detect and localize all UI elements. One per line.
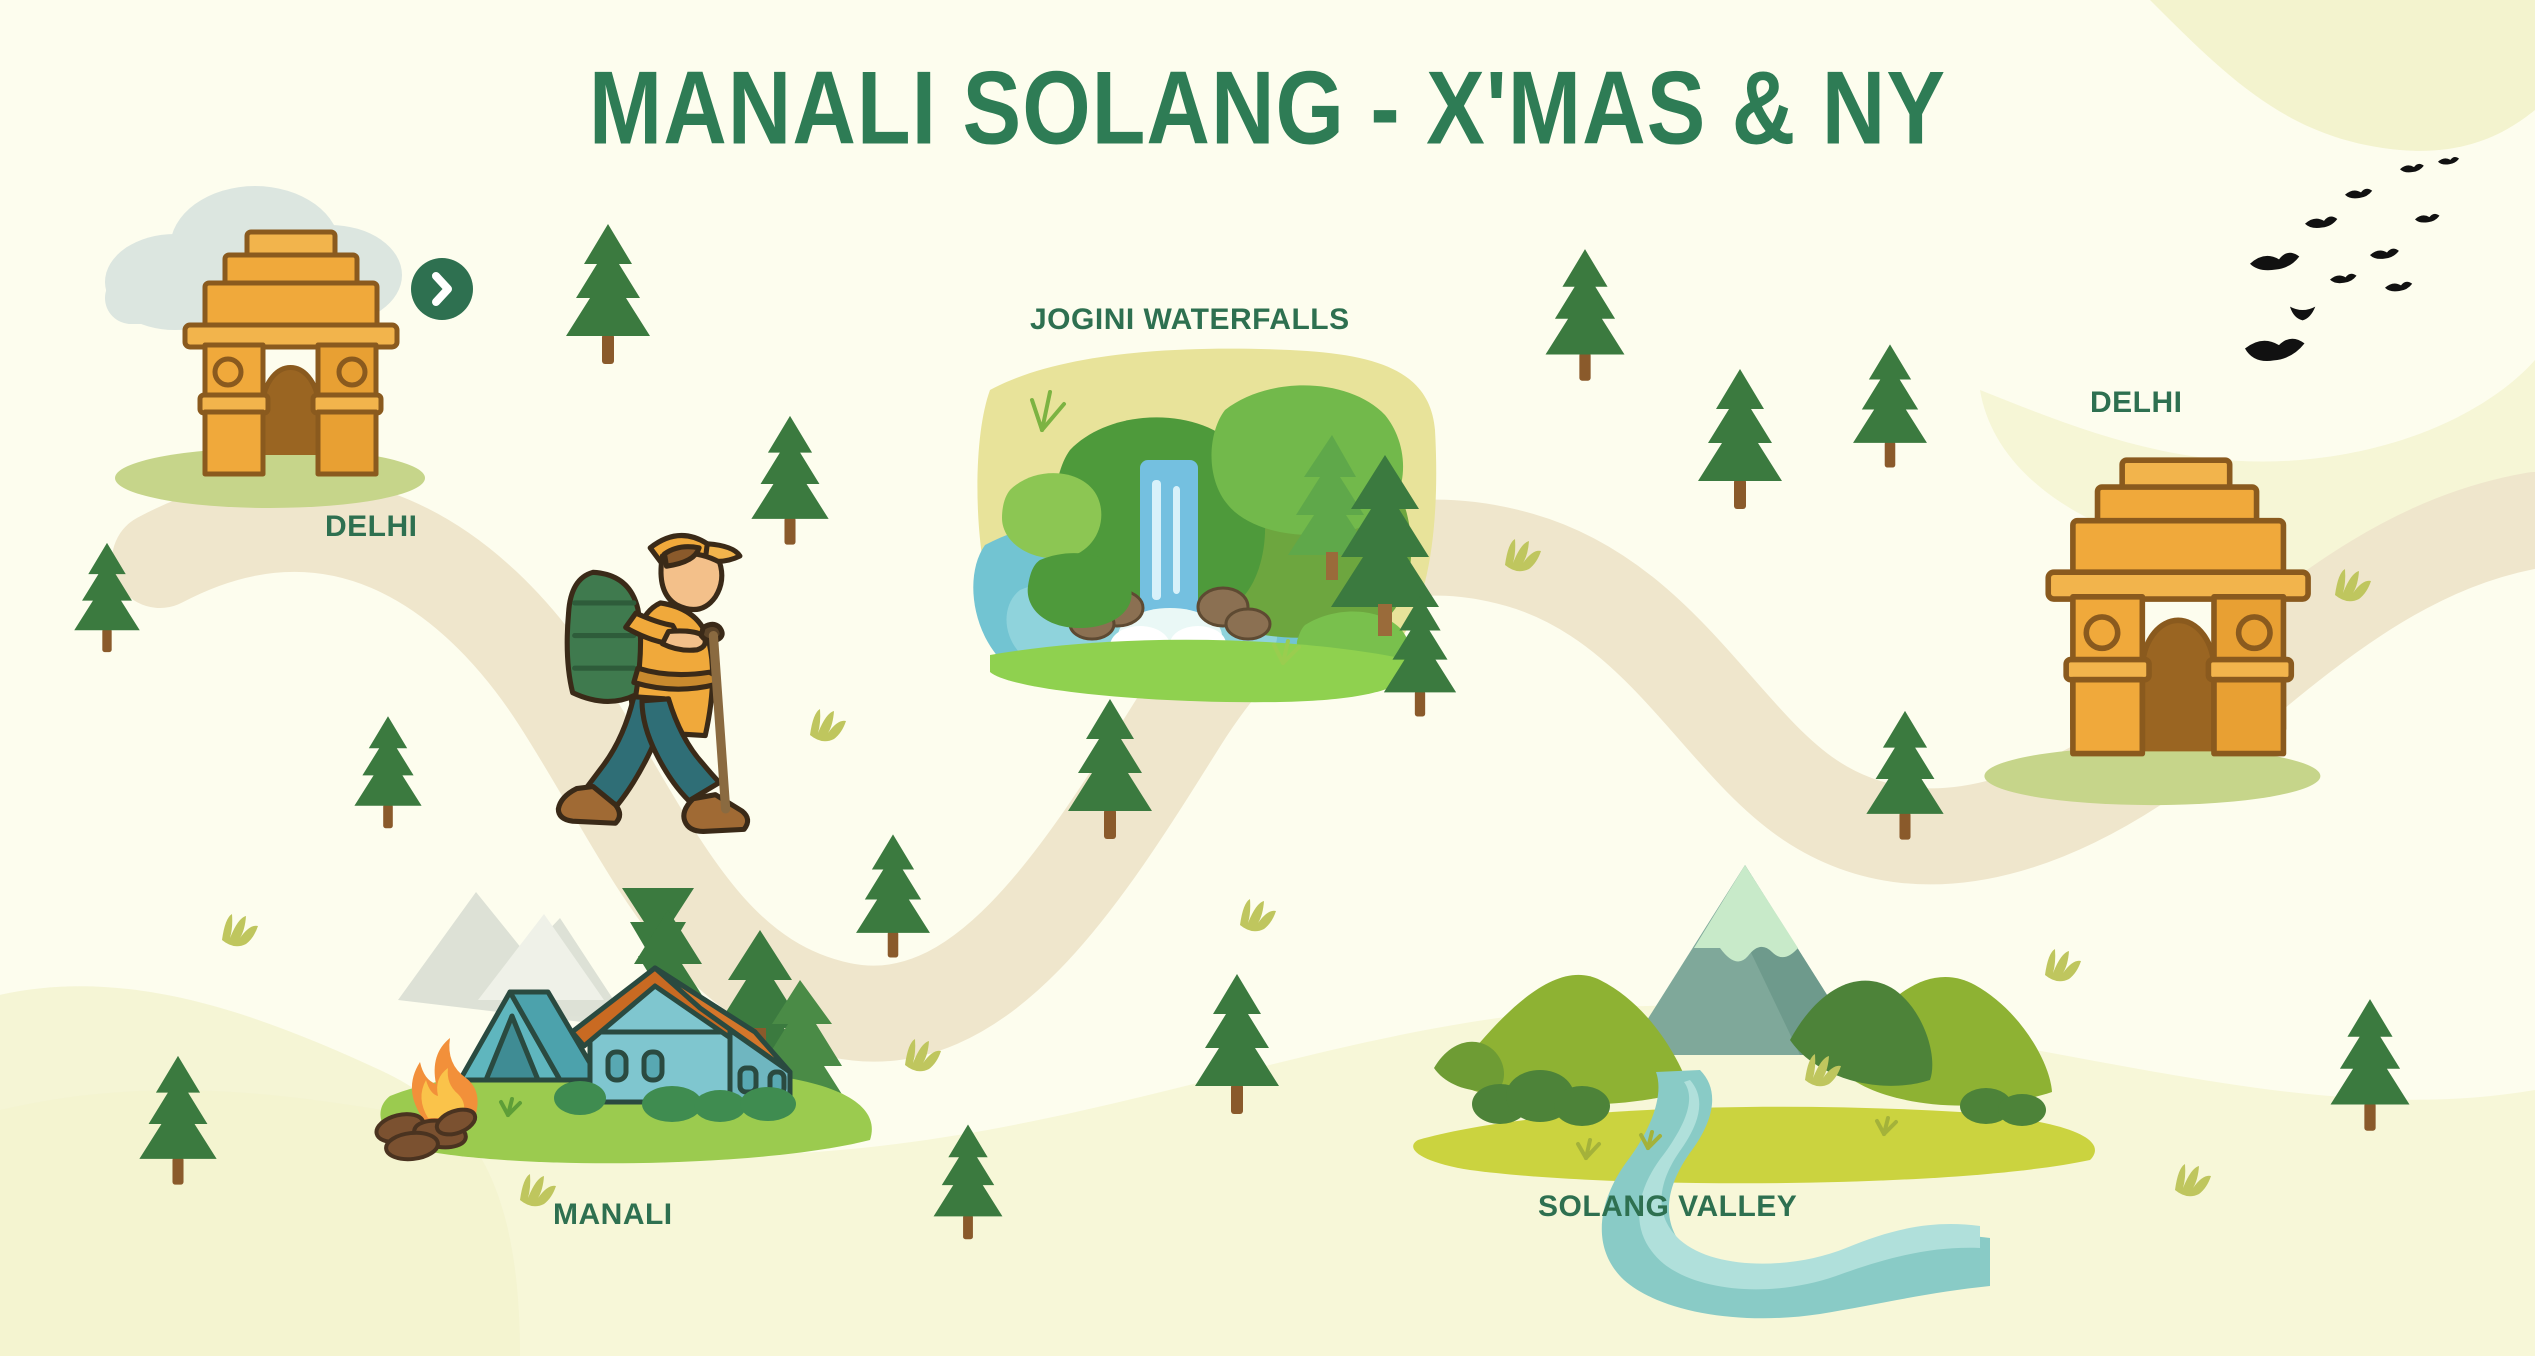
- pine-tree-icon: [1698, 369, 1782, 509]
- hiker-figure: [558, 535, 747, 831]
- pine-tree-icon: [2331, 999, 2410, 1131]
- pine-tree-icon: [1866, 711, 1943, 840]
- place-label-manali: MANALI: [553, 1198, 673, 1232]
- grass-tuft-icon: [2045, 949, 2081, 981]
- pine-tree-icon: [856, 834, 930, 957]
- pine-tree-icon: [1853, 344, 1927, 467]
- place-label-delhi-left: DELHI: [325, 510, 418, 544]
- pine-tree-icon: [1195, 974, 1279, 1114]
- grass-tuft-icon: [905, 1039, 941, 1071]
- pine-tree-icon: [566, 224, 650, 364]
- solang-valley-illustration: [1413, 865, 2095, 1318]
- pine-tree-icon: [139, 1056, 216, 1185]
- page-title: MANALI SOLANG - X'MAS & NY: [0, 48, 2535, 168]
- bird-flock: [2245, 157, 2459, 361]
- jogini-waterfall-illustration: [973, 349, 1439, 703]
- pine-tree-icon: [354, 716, 421, 828]
- pine-tree-icon: [934, 1124, 1003, 1239]
- grass-tuft-icon: [520, 1174, 556, 1206]
- grass-tuft-icon: [222, 914, 258, 946]
- grass-tuft-icon: [2335, 569, 2371, 601]
- scene-layer: [0, 0, 2535, 1356]
- place-label-solang-valley: SOLANG VALLEY: [1538, 1190, 1797, 1224]
- grass-tuft-icon: [810, 709, 846, 741]
- india-gate-right: [1984, 460, 2320, 805]
- manali-camp-illustration: [374, 888, 872, 1163]
- next-button[interactable]: [411, 258, 473, 320]
- place-label-delhi-right: DELHI: [2090, 386, 2183, 420]
- pine-tree-icon: [74, 543, 140, 652]
- chevron-right-icon: [411, 258, 473, 320]
- grass-tuft-icon: [1240, 899, 1276, 931]
- grass-tuft-icon: [2175, 1164, 2211, 1196]
- pine-tree-icon: [751, 416, 828, 545]
- pine-tree-icon: [1068, 699, 1152, 839]
- pine-tree-icon: [1546, 249, 1625, 381]
- place-label-jogini-waterfalls: JOGINI WATERFALLS: [1030, 303, 1350, 337]
- illustration-canvas: MANALI SOLANG - X'MAS & NY DELHIJOGINI W…: [0, 0, 2535, 1356]
- grass-tuft-icon: [1505, 539, 1541, 571]
